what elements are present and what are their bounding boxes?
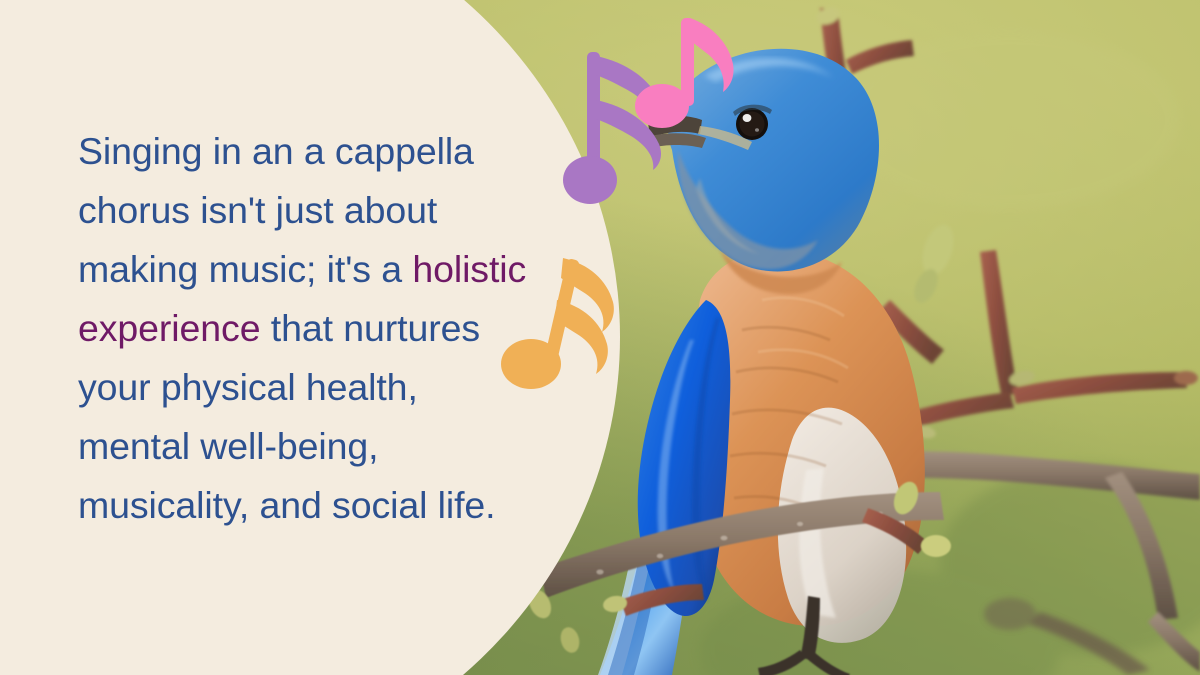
poster-canvas: Singing in an a cappella chorus isn't ju… [0,0,1200,675]
quote-text: Singing in an a cappella chorus isn't ju… [78,122,530,535]
music-note-pink-icon [633,18,743,130]
